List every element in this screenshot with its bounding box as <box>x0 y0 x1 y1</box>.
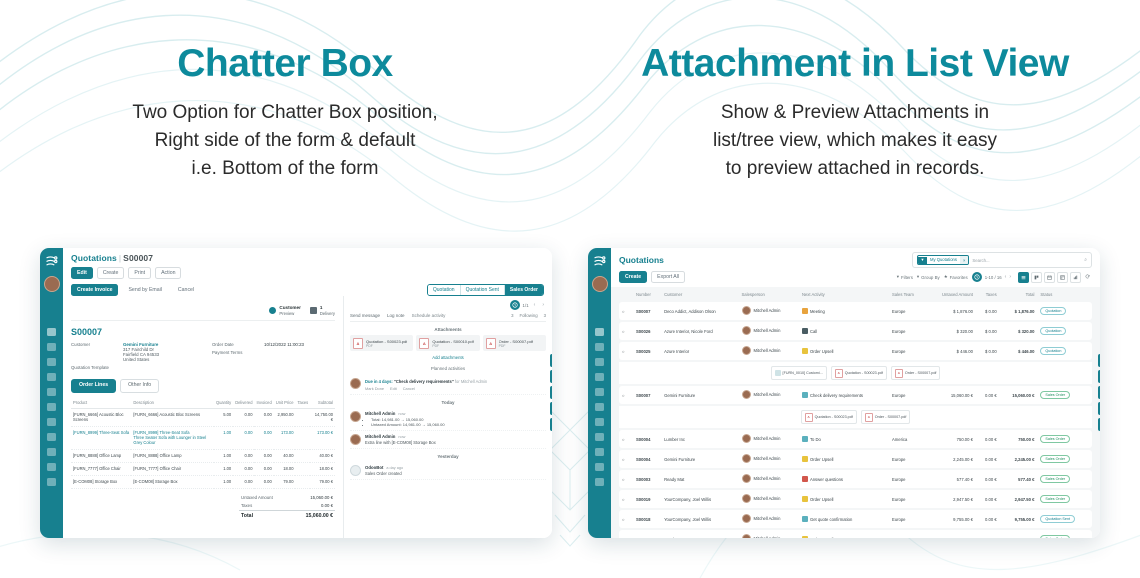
pager-next-icon[interactable]: › <box>540 302 546 308</box>
quotations-rows: ○ S00007 Deco Addict, Addison Olson Mitc… <box>619 302 1092 538</box>
row-checkbox[interactable]: ○ <box>619 302 633 320</box>
salesperson-name: Mitchell Admin <box>754 496 781 501</box>
cell-sales-team: Europe <box>889 530 926 538</box>
avatar <box>742 326 751 335</box>
cell-number[interactable]: S00007 <box>633 386 661 404</box>
pdf-icon: A <box>835 369 843 378</box>
activity-label: Meeting <box>810 309 825 314</box>
cell-product: [FURN_8888] Office Lamp <box>71 449 131 462</box>
total-untaxed-value: 15,060.00 € <box>290 494 335 502</box>
filters-dropdown[interactable]: ▾Filters <box>897 274 913 280</box>
total-taxes-label: Taxes <box>239 502 290 511</box>
chart-icon[interactable] <box>595 388 604 396</box>
table-row[interactable]: [FURN_8888] Office Lamp [FURN_8888] Offi… <box>71 449 335 462</box>
attachment-preview-row: [FURN_0010] Customi... AQuotation - S000… <box>619 362 1092 384</box>
cell-sales-team: Europe <box>889 510 926 528</box>
cell-salesperson: Mitchell Admin <box>739 490 799 508</box>
cell-customer: Gemini Furniture <box>661 450 738 468</box>
cell-taxes: 0.00 € <box>976 530 1000 538</box>
cell-description: [FURN_8888] Office Lamp <box>131 449 214 462</box>
cell-description: [FURN_6666] Acoustic Bloc Screens <box>131 408 214 426</box>
attachment-chips-cell: AQuotation - S00023.pdf AOrder - S00007.… <box>619 406 1092 428</box>
table-row[interactable]: ○ S00007 Gemini Furniture Mitchell Admin… <box>619 386 1092 404</box>
col-delivered[interactable]: Delivered <box>233 398 254 409</box>
col-total[interactable]: Total <box>1000 289 1038 300</box>
invoice-icon[interactable] <box>47 433 56 441</box>
cell-taxes: 0.00 € <box>976 450 1000 468</box>
cell-customer: Azure Interior, Nicole Ford <box>661 322 738 340</box>
megaphone-icon[interactable] <box>47 343 56 351</box>
cell-unit-price: 18.00 <box>274 462 296 475</box>
cell-invoiced: 0.00 <box>254 449 273 462</box>
list-toolbar: Create Export All ▾Filters ▾Group By ★Fa… <box>611 268 1100 287</box>
field-payment-terms-label: Payment Terms <box>212 350 258 355</box>
cell-delivered: 0.00 <box>233 449 254 462</box>
action-button[interactable]: Action <box>155 267 181 279</box>
inventory-icon[interactable] <box>47 418 56 426</box>
inventory-icon[interactable] <box>595 418 604 426</box>
status-bar[interactable]: Quotation Quotation Sent Sales Order <box>427 284 544 296</box>
order-lines-table: Product Description Quantity Delivered I… <box>71 398 335 489</box>
edit-activity-button[interactable]: Edit <box>390 386 397 391</box>
cancel-button[interactable]: Cancel <box>172 284 200 296</box>
cell-untaxed: 15,060.00 € <box>926 386 976 404</box>
table-row[interactable]: [FURN_8999] Three-Seat Sofa [FURN_8999] … <box>71 426 335 449</box>
graph-view-icon[interactable] <box>1070 272 1081 283</box>
cell-next-activity: Order Upsell <box>799 450 889 468</box>
website-icon[interactable] <box>595 463 604 471</box>
filter-icon: ▾ <box>897 274 899 280</box>
cell-number[interactable]: S00018 <box>633 510 661 528</box>
list-view-body: Quotations ▼ My Quotations × Search... ⌕… <box>611 248 1100 538</box>
create-button[interactable]: Create <box>619 271 647 283</box>
table-row[interactable]: ○ S00002 Ready Mat Mitchell Admin Order … <box>619 530 1092 538</box>
cell-taxes: 0.00 € <box>976 510 1000 528</box>
col-next-activity[interactable]: Next Activity <box>799 289 889 300</box>
status-quotation-sent[interactable]: Quotation Sent <box>461 285 505 295</box>
cell-salesperson: Mitchell Admin <box>739 450 799 468</box>
cell-taxes: 0.00 € <box>976 430 1000 448</box>
col-taxes[interactable]: Taxes <box>295 398 310 409</box>
grid-icon[interactable] <box>1098 418 1100 431</box>
table-row[interactable]: [FURN_7777] Office Chair [FURN_7777] Off… <box>71 462 335 475</box>
chat-icon[interactable] <box>47 328 56 336</box>
table-row[interactable]: ○ S00018 YourCompany, Joel Willis Mitche… <box>619 510 1092 528</box>
sidebar-icon-list[interactable] <box>47 328 56 486</box>
avatar[interactable] <box>44 276 60 292</box>
customer-address-3: United States <box>123 357 159 362</box>
facet-label: My Quotations <box>927 256 960 263</box>
col-invoiced[interactable]: Invoiced <box>254 398 273 409</box>
search-icon[interactable] <box>550 370 552 383</box>
cell-taxes: $ 0.00 <box>976 302 1000 320</box>
activity-due: Due in 4 days: <box>365 379 393 384</box>
activity-label: Answer questions <box>810 477 843 482</box>
status-badge: Sales Order <box>1040 391 1070 399</box>
chatter-panel: 1/1 ‹ › Send message Log note Schedule a… <box>343 296 552 538</box>
cell-delivered: 0.00 <box>233 426 254 449</box>
chatter-toolbar: Send message Log note Schedule activity … <box>350 313 546 322</box>
cell-number[interactable]: S00007 <box>633 302 661 320</box>
cell-delivered: 0.00 <box>233 408 254 426</box>
col-unit-price[interactable]: Unit Price <box>274 398 296 409</box>
cell-sales-team: Europe <box>889 490 926 508</box>
table-row[interactable]: ○ S00003 Ready Mat Mitchell Admin Answer… <box>619 470 1092 488</box>
pdf-icon: A <box>805 413 813 422</box>
status-sales-order[interactable]: Sales Order <box>505 285 543 295</box>
pivot-view-icon[interactable] <box>1057 272 1068 283</box>
attachment-card[interactable]: A Quotation - S00023.pdf PDF <box>350 335 413 351</box>
cell-untaxed: 2,917.00 € <box>926 530 976 538</box>
settings-icon[interactable] <box>47 478 56 486</box>
feature-panel-attachment-list-view: Attachment in List View Show & Preview A… <box>570 0 1140 210</box>
cell-salesperson: Mitchell Admin <box>739 302 799 320</box>
attachment-chip[interactable]: AQuotation - S00023.pdf <box>801 410 857 424</box>
cell-number[interactable]: S00004 <box>633 450 661 468</box>
attachment-chip[interactable]: AOrder - S00007.pdf <box>861 410 911 424</box>
col-description[interactable]: Description <box>131 398 214 409</box>
schedule-activity-button[interactable]: Schedule activity <box>412 313 446 318</box>
col-untaxed-amount[interactable]: Untaxed Amount <box>926 289 976 300</box>
employees-icon[interactable] <box>595 448 604 456</box>
cell-number[interactable]: S00026 <box>633 322 661 340</box>
attachment-chip[interactable]: [FURN_0010] Customi... <box>771 366 827 380</box>
followers-number[interactable]: 3 <box>544 313 546 318</box>
field-grid: Customer Gemini Furniture 317 Fairchild … <box>71 342 335 372</box>
search-icon[interactable] <box>1098 370 1100 383</box>
cell-next-activity: To Do <box>799 430 889 448</box>
breadcrumb: Quotations <box>619 255 664 265</box>
page-subtitle-right: Show & Preview Attachments in list/tree … <box>570 99 1140 183</box>
list-container[interactable]: Number Customer Salesperson Next Activit… <box>611 287 1100 538</box>
cell-status: Sales Order <box>1037 530 1092 538</box>
chatter-pager: 1/1 ‹ › <box>350 300 546 310</box>
truck-icon <box>310 307 317 314</box>
cell-taxes <box>295 475 310 488</box>
activity-label: Order Upsell <box>810 537 834 538</box>
attachment-chip[interactable]: AQuotation - S00023.pdf <box>831 366 887 380</box>
status-quotation[interactable]: Quotation <box>428 285 461 295</box>
search-input[interactable]: ▼ My Quotations × Search... ⌕ <box>912 252 1092 268</box>
row-checkbox[interactable]: ○ <box>619 530 633 538</box>
status-badge: Quotation <box>1040 307 1066 315</box>
contacts-icon[interactable] <box>595 373 604 381</box>
cell-status: Sales Order <box>1037 470 1092 488</box>
activity-label: Order Upsell <box>810 497 834 502</box>
row-checkbox[interactable]: ○ <box>619 342 633 360</box>
megaphone-icon[interactable] <box>595 343 604 351</box>
grand-total-value: 15,060.00 € <box>290 510 335 521</box>
row-checkbox[interactable]: ○ <box>619 430 633 448</box>
calendar-view-icon[interactable] <box>1044 272 1055 283</box>
cell-number[interactable]: S00004 <box>633 430 661 448</box>
col-status[interactable]: Status <box>1037 289 1092 300</box>
sidebar-icon-list[interactable] <box>595 328 604 486</box>
cart-icon[interactable] <box>595 403 604 411</box>
send-by-email-button[interactable]: Send by Email <box>122 284 167 296</box>
avatar <box>742 434 751 443</box>
section-yesterday: Yesterday <box>350 454 546 459</box>
table-row[interactable]: [E-COM08] Storage Box [E-COM08] Storage … <box>71 475 335 488</box>
avatar <box>742 494 751 503</box>
control-panel: Quotations|S00007 Edit Create Print Acti… <box>63 248 552 296</box>
attachment-card[interactable]: A Order - S00007.pdf PDF <box>483 335 546 351</box>
app-sidebar-left[interactable] <box>40 248 63 538</box>
avatar <box>742 454 751 463</box>
calendar-icon[interactable] <box>595 358 604 366</box>
cell-number[interactable]: S00019 <box>633 490 661 508</box>
cell-next-activity: Call <box>799 322 889 340</box>
cell-description: [E-COM08] Storage Box <box>131 475 214 488</box>
status-row: Create Invoice Send by Email Cancel Quot… <box>71 284 544 296</box>
attachment-name: Quotation - S00023.pdf <box>845 371 883 375</box>
cell-status: Sales Order <box>1037 386 1092 404</box>
cell-untaxed: $ 320.00 <box>926 322 976 340</box>
pdf-icon: A <box>895 369 903 378</box>
message-time: a day ago <box>386 466 403 470</box>
filter-icon: ▼ <box>918 257 927 264</box>
cell-untaxed: $ 1,876.00 <box>926 302 976 320</box>
grand-total-row: Total 15,060.00 € <box>239 510 335 521</box>
cell-status: Quotation Sent <box>1037 510 1092 528</box>
cell-taxes: 0.00 € <box>976 386 1000 404</box>
cell-invoiced: 0.00 <box>254 408 273 426</box>
table-row[interactable]: ○ S00025 Azure Interior Mitchell Admin O… <box>619 342 1092 360</box>
field-quotation-template: Quotation Template <box>71 365 194 370</box>
notebook-tabs: Order Lines Other Info <box>71 379 335 392</box>
cart-icon[interactable] <box>47 403 56 411</box>
activity-title: "Check delivery requirements" <box>394 379 454 384</box>
row-checkbox[interactable]: ○ <box>619 470 633 488</box>
field-column-left: Customer Gemini Furniture 317 Fairchild … <box>71 342 194 372</box>
pager-previous-icon[interactable]: ‹ <box>532 302 538 308</box>
search-facet-my-quotations[interactable]: ▼ My Quotations × <box>917 255 969 265</box>
col-customer[interactable]: Customer <box>661 289 738 300</box>
activity-label: Check delivery requirements <box>810 393 863 398</box>
close-icon[interactable]: × <box>960 256 968 264</box>
row-checkbox[interactable]: ○ <box>619 322 633 340</box>
feature-panels: Chatter Box Two Option for Chatter Box p… <box>0 0 1140 210</box>
message-body: Sales Order created <box>365 471 546 476</box>
activity-type-icon <box>802 476 808 482</box>
attachment-chip[interactable]: AOrder - S00007.pdf <box>891 366 941 380</box>
tab-order-lines[interactable]: Order Lines <box>71 379 116 392</box>
avatar <box>742 306 751 315</box>
app-sidebar-right[interactable] <box>588 248 611 538</box>
print-icon[interactable] <box>550 402 552 415</box>
activity-label: Order Upsell <box>810 349 834 354</box>
row-checkbox[interactable]: ○ <box>619 510 633 528</box>
field-order-date-label: Order Date <box>212 342 258 347</box>
favorites-dropdown[interactable]: ★Favorites <box>944 274 968 280</box>
avatar <box>742 474 751 483</box>
view-switcher <box>1018 272 1092 283</box>
cell-subtotal: 79.00 € <box>310 475 335 488</box>
status-badge: Quotation <box>1040 327 1066 335</box>
chart-icon[interactable] <box>47 388 56 396</box>
field-customer-value[interactable]: Gemini Furniture 317 Fairchild Dr Fairfi… <box>123 342 159 362</box>
activity-label: Order Upsell <box>810 457 834 462</box>
cell-total: 9,755.00 € <box>1000 510 1038 528</box>
activity-clock-icon[interactable] <box>510 300 520 310</box>
status-badge: Quotation <box>1040 347 1066 355</box>
status-badge: Sales Order <box>1040 535 1070 538</box>
feature-panel-chatter-box: Chatter Box Two Option for Chatter Box p… <box>0 0 570 210</box>
activity-label: Call <box>810 329 817 334</box>
table-row[interactable]: ○ S00019 YourCompany, Joel Willis Mitche… <box>619 490 1092 508</box>
cell-salesperson: Mitchell Admin <box>739 430 799 448</box>
contacts-icon[interactable] <box>47 373 56 381</box>
cell-untaxed: 9,755.00 € <box>926 510 976 528</box>
log-note-button[interactable]: Log note <box>387 313 405 318</box>
attachment-card[interactable]: A Quotation - S00010.pdf PDF <box>416 335 479 351</box>
cell-taxes <box>295 449 310 462</box>
cell-number[interactable]: S00025 <box>633 342 661 360</box>
field-customer: Customer Gemini Furniture 317 Fairchild … <box>71 342 194 362</box>
breadcrumb-app[interactable]: Quotations <box>71 253 117 263</box>
table-row[interactable]: ○ S00004 Gemini Furniture Mitchell Admin… <box>619 450 1092 468</box>
star-icon[interactable] <box>550 354 552 367</box>
cell-total: $ 446.00 <box>1000 342 1038 360</box>
settings-icon[interactable] <box>595 478 604 486</box>
planned-activities-title: Planned activities <box>350 366 546 371</box>
cell-taxes <box>295 426 310 449</box>
employees-icon[interactable] <box>47 448 56 456</box>
table-row[interactable]: [FURN_6666] Acoustic Bloc Screens [FURN_… <box>71 408 335 426</box>
star-icon[interactable] <box>1098 354 1100 367</box>
website-icon[interactable] <box>47 463 56 471</box>
row-checkbox[interactable]: ○ <box>619 450 633 468</box>
list-view-screenshot: Quotations ▼ My Quotations × Search... ⌕… <box>588 248 1100 538</box>
cell-untaxed: $ 446.00 <box>926 342 976 360</box>
activity-type-icon <box>802 456 808 462</box>
cell-sales-team: Europe <box>889 450 926 468</box>
activity-label: Get quote confirmation <box>810 517 852 522</box>
avatar <box>350 378 361 389</box>
totals-block: Untaxed Amount 15,060.00 € Taxes 0.00 € … <box>71 494 335 521</box>
activity-type-icon <box>802 516 808 522</box>
followers-count[interactable]: 3 <box>511 313 513 318</box>
form-button-row: Edit Create Print Action <box>71 267 544 279</box>
attachment-name: [FURN_0010] Customi... <box>783 371 823 375</box>
avatar <box>350 465 361 476</box>
cell-subtotal: 173.00 € <box>310 426 335 449</box>
calendar-icon[interactable] <box>47 358 56 366</box>
cell-unit-price: 2,950.00 <box>274 408 296 426</box>
status-badge: Quotation Sent <box>1040 515 1075 523</box>
cell-subtotal: 14,750.00 € <box>310 408 335 426</box>
field-order-date-value[interactable]: 10/12/2022 11:00:23 <box>264 342 304 347</box>
cell-next-activity: Order Upsell <box>799 490 889 508</box>
export-all-button[interactable]: Export All <box>651 271 685 283</box>
chat-icon[interactable] <box>595 328 604 336</box>
activity-type-icon <box>802 348 808 354</box>
expand-icon[interactable] <box>1098 386 1100 399</box>
kanban-view-icon[interactable] <box>1031 272 1042 283</box>
tracking-value: Untaxed Amount: 14,981.00 → 15,060.00 <box>371 422 546 427</box>
cell-total: 15,060.00 € <box>1000 386 1038 404</box>
avatar[interactable] <box>592 276 608 292</box>
col-number[interactable]: Number <box>633 289 661 300</box>
cell-total: $ 320.00 <box>1000 322 1038 340</box>
cell-salesperson: Mitchell Admin <box>739 342 799 360</box>
grid-icon[interactable] <box>550 418 552 431</box>
col-taxes[interactable]: Taxes <box>976 289 1000 300</box>
activity-assignee: for Mitchell Admin <box>455 379 487 384</box>
cell-salesperson: Mitchell Admin <box>739 322 799 340</box>
message-tracking-list: Total: 14,981.00 → 15,060.00 Untaxed Amo… <box>371 417 546 427</box>
table-row[interactable]: ○ S00007 Deco Addict, Addison Olson Mitc… <box>619 302 1092 320</box>
avatar <box>742 346 751 355</box>
add-attachments-button[interactable]: Add attachments <box>350 355 546 360</box>
col-subtotal[interactable]: Subtotal <box>310 398 335 409</box>
cell-total: 2,947.50 € <box>1000 490 1038 508</box>
row-checkbox[interactable]: ○ <box>619 490 633 508</box>
smart-button-row: CustomerPreview 1Delivery <box>71 301 335 321</box>
table-row[interactable]: ○ S00004 Lumber Inc Mitchell Admin To Do… <box>619 430 1092 448</box>
order-lines-header: Product Description Quantity Delivered I… <box>71 398 335 409</box>
cell-taxes: $ 0.00 <box>976 342 1000 360</box>
smart-button-delivery[interactable]: 1Delivery <box>310 305 335 316</box>
col-quantity[interactable]: Quantity <box>214 398 233 409</box>
message-time: now <box>398 412 405 416</box>
cell-unit-price: 173.00 <box>274 426 296 449</box>
row-checkbox[interactable]: ○ <box>619 386 633 404</box>
edit-button[interactable]: Edit <box>71 267 93 279</box>
col-sales-team[interactable]: Sales Team <box>889 289 926 300</box>
cancel-activity-button[interactable]: Cancel <box>403 386 415 391</box>
field-column-right: Order Date 10/12/2022 11:00:23 Payment T… <box>212 342 335 372</box>
refresh-icon[interactable] <box>1083 272 1092 281</box>
expand-icon[interactable] <box>550 386 552 399</box>
search-icon[interactable]: ⌕ <box>1084 257 1087 263</box>
send-message-button[interactable]: Send message <box>350 313 380 318</box>
table-row[interactable]: ○ S00026 Azure Interior, Nicole Ford Mit… <box>619 322 1092 340</box>
invoice-icon[interactable] <box>595 433 604 441</box>
pager-previous-icon[interactable]: ‹ <box>1005 274 1007 280</box>
cell-quantity: 5.00 <box>214 408 233 426</box>
col-product[interactable]: Product <box>71 398 131 409</box>
cell-product: [FURN_7777] Office Chair <box>71 462 131 475</box>
cell-number[interactable]: S00003 <box>633 470 661 488</box>
tab-other-info[interactable]: Other Info <box>120 379 159 392</box>
col-salesperson[interactable]: Salesperson <box>739 289 799 300</box>
pager-next-icon[interactable]: › <box>1009 274 1011 280</box>
mark-done-button[interactable]: Mark Done <box>365 386 384 391</box>
cell-salesperson: Mitchell Admin <box>739 386 799 404</box>
following-button[interactable]: Following <box>519 313 537 318</box>
cell-description: [FURN_7777] Office Chair <box>131 462 214 475</box>
group-by-dropdown[interactable]: ▾Group By <box>917 274 940 280</box>
grand-total-label: Total <box>239 510 290 521</box>
page-subtitle-left: Two Option for Chatter Box position, Rig… <box>0 99 570 183</box>
list-view-icon[interactable] <box>1018 272 1029 283</box>
smart-button-customer-preview[interactable]: CustomerPreview <box>269 305 300 316</box>
salesperson-name: Mitchell Admin <box>754 456 781 461</box>
form-sheet: CustomerPreview 1Delivery S00007 Custome… <box>63 296 343 538</box>
attachment-name: Quotation - S00023.pdf <box>815 415 853 419</box>
cell-total: 577.40 € <box>1000 470 1038 488</box>
cell-customer: Lumber Inc <box>661 430 738 448</box>
print-icon[interactable] <box>1098 402 1100 415</box>
image-icon <box>775 370 781 376</box>
print-button[interactable]: Print <box>128 267 151 279</box>
activity-clock-icon[interactable] <box>972 272 982 282</box>
cell-number[interactable]: S00002 <box>633 530 661 538</box>
select-all-checkbox[interactable] <box>619 289 633 300</box>
create-invoice-button[interactable]: Create Invoice <box>71 284 118 296</box>
create-button[interactable]: Create <box>97 267 125 279</box>
